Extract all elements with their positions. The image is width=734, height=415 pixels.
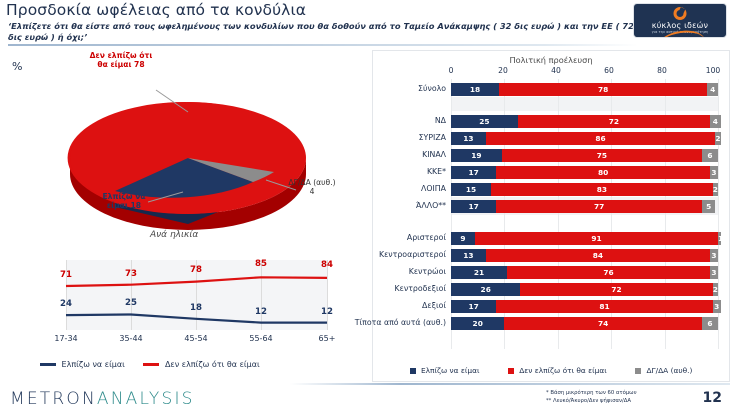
- legend-label: Δεν ελπίζω ότι θα είμαι: [165, 360, 260, 369]
- footnotes: * Βάση μικρότερη των 60 ατόμων ** Λευκό/…: [546, 390, 696, 405]
- bar-segment-value: 5: [702, 200, 715, 213]
- legend-swatch-red-icon: [508, 368, 514, 374]
- bar-plot-area: Σύνολο18784ΝΔ25724ΣΥΡΙΖΑ13862ΚΙΝΑΛ19756Κ…: [451, 79, 718, 349]
- bar-segment-value: 3: [710, 266, 718, 279]
- bar-segment-value: 3: [710, 166, 718, 179]
- plot-band: [451, 97, 718, 111]
- legend-item-red: Δεν ελπίζω ότι θα είμαι: [508, 366, 607, 375]
- kyklos-ideon-logo: κύκλος ιδεών για την αστική ανασυγκρότησ…: [634, 4, 726, 37]
- bar-segment-value: 72: [518, 115, 710, 128]
- bar-row-label: ΝΔ: [435, 116, 446, 125]
- bar-segment-navy: 18: [451, 83, 499, 96]
- bar-segment-value: 76: [507, 266, 710, 279]
- bar-segment-navy: 19: [451, 149, 502, 162]
- bar-chart-panel: Πολιτική προέλευση 0 20 40 60 80 100 Σύν…: [372, 50, 730, 382]
- bar-segment-value: 2: [713, 183, 718, 196]
- bar-segment-red: 80: [496, 166, 710, 179]
- pie-label-navy: Ελπίζω να είμαι 18: [86, 192, 162, 210]
- legend-item-navy: Ελπίζω να είμαι: [40, 360, 125, 369]
- bar-segment-value: 9: [451, 232, 475, 245]
- bar-segment-navy: 17: [451, 166, 496, 179]
- bar-segment-value: 81: [496, 300, 712, 313]
- bar-segment-red: 72: [520, 283, 712, 296]
- bar-segment-value: 18: [451, 83, 499, 96]
- footer-divider: [290, 383, 730, 385]
- bar-segment-navy: 13: [451, 132, 486, 145]
- bar-row-label: ΚΙΝΑΛ: [422, 150, 446, 159]
- bar-segment-value: 74: [504, 317, 702, 330]
- legend-swatch-red-icon: [143, 363, 159, 366]
- bar-segment-red: 78: [499, 83, 707, 96]
- legend-item-red: Δεν ελπίζω ότι θα είμαι: [143, 360, 259, 369]
- bar-row: Κεντροαριστεροί13843: [451, 249, 718, 262]
- legend-swatch-navy-icon: [40, 363, 56, 366]
- bar-segment-red: 84: [486, 249, 710, 262]
- line-value-red: 84: [314, 260, 340, 270]
- line-value-red: 78: [183, 265, 209, 275]
- bar-segment-red: 77: [496, 200, 702, 213]
- bar-segment-value: 72: [520, 283, 712, 296]
- bar-segment-grey: 5: [702, 200, 715, 213]
- bar-row-label: ΣΥΡΙΖΑ: [419, 133, 446, 142]
- line-chart-legend: Ελπίζω να είμαι Δεν ελπίζω ότι θα είμαι: [40, 360, 360, 369]
- line-value-navy: 12: [248, 307, 274, 317]
- bar-row-label: Τίποτα από αυτά (αυθ.): [355, 318, 446, 327]
- slide-root: Προσδοκία ωφέλειας από τα κονδύλια ‘Ελπί…: [0, 0, 734, 415]
- metron-analysis-logo: METRONANALYSIS: [10, 389, 195, 409]
- bar-segment-value: 86: [486, 132, 716, 145]
- bar-segment-navy: 25: [451, 115, 518, 128]
- bar-x-tick: 100: [703, 66, 723, 75]
- bar-segment-value: 77: [496, 200, 702, 213]
- bar-segment-red: 81: [496, 300, 712, 313]
- legend-swatch-grey-icon: [635, 368, 641, 374]
- bar-segment-navy: 15: [451, 183, 491, 196]
- bar-segment-value: 17: [451, 166, 496, 179]
- line-x-label: 45-54: [176, 334, 216, 343]
- bar-segment-grey: 6: [702, 317, 718, 330]
- line-chart-title: Ανά ηλικία: [150, 230, 198, 240]
- bar-chart-legend: Ελπίζω να είμαι Δεν ελπίζω ότι θα είμαι …: [373, 366, 729, 375]
- bar-segment-navy: 17: [451, 200, 496, 213]
- bar-segment-grey: 3: [710, 249, 718, 262]
- bar-segment-value: 17: [451, 300, 496, 313]
- bar-segment-value: 17: [451, 200, 496, 213]
- bar-segment-red: 86: [486, 132, 716, 145]
- bar-segment-grey: 2: [713, 183, 718, 196]
- bar-row-label: ΛΟΙΠΑ: [421, 184, 446, 193]
- bar-row: Τίποτα από αυτά (αυθ.)20746: [451, 317, 718, 330]
- bar-segment-red: 83: [491, 183, 713, 196]
- bar-segment-value: 3: [710, 249, 718, 262]
- bar-segment-navy: 21: [451, 266, 507, 279]
- bar-row: ΚΚΕ*17803: [451, 166, 718, 179]
- bar-segment-value: 4: [710, 115, 721, 128]
- bar-segment-grey: 4: [710, 115, 721, 128]
- line-x-label: 17-34: [46, 334, 86, 343]
- bar-segment-value: 6: [702, 317, 718, 330]
- bar-segment-grey: 1: [718, 232, 721, 245]
- bar-segment-value: 75: [502, 149, 702, 162]
- page-title: Προσδοκία ωφέλειας από τα κονδύλια: [6, 2, 626, 19]
- legend-label: Ελπίζω να είμαι: [62, 360, 125, 369]
- bar-x-tick: 60: [599, 66, 619, 75]
- brand-analysis: ANALYSIS: [97, 389, 195, 409]
- pie-chart-svg: [8, 52, 368, 232]
- bar-segment-value: 80: [496, 166, 710, 179]
- bar-segment-value: 83: [491, 183, 713, 196]
- footnote-2: ** Λευκό/Άκυρο/Δεν ψήφισαν/ΔΑ: [546, 398, 696, 406]
- bar-segment-value: 20: [451, 317, 504, 330]
- bar-row-label: ΚΚΕ*: [427, 167, 446, 176]
- bar-row-label: Αριστεροί: [407, 233, 446, 242]
- bar-segment-value: 25: [451, 115, 518, 128]
- bar-segment-navy: 17: [451, 300, 496, 313]
- bar-segment-grey: 3: [710, 266, 718, 279]
- bar-row: ΆΛΛΟ**17775: [451, 200, 718, 213]
- bar-segment-value: 91: [475, 232, 718, 245]
- line-value-navy: 24: [53, 299, 79, 309]
- bar-segment-navy: 26: [451, 283, 520, 296]
- bar-segment-value: 4: [707, 83, 718, 96]
- bar-segment-navy: 9: [451, 232, 475, 245]
- bar-row-label: Κεντροδεξιοί: [395, 284, 446, 293]
- line-value-red: 71: [53, 270, 79, 280]
- bar-row-label: Σύνολο: [418, 84, 446, 93]
- bar-row-label: Κεντροαριστεροί: [379, 250, 446, 259]
- line-chart-svg: [18, 246, 348, 346]
- line-value-red: 85: [248, 259, 274, 269]
- question-subtitle: ‘Ελπίζετε ότι θα είστε από τους ωφελημέν…: [8, 21, 638, 43]
- line-chart: 71 73 78 85 84 24 25 18 12 12 17-34 35-4…: [18, 246, 348, 346]
- logo-name: κύκλος ιδεών: [634, 21, 726, 30]
- bar-segment-red: 72: [518, 115, 710, 128]
- line-value-navy: 12: [314, 307, 340, 317]
- bar-row: Σύνολο18784: [451, 83, 718, 96]
- line-x-label: 65+: [307, 334, 347, 343]
- bar-row: ΣΥΡΙΖΑ13862: [451, 132, 718, 145]
- bar-row: ΛΟΙΠΑ15832: [451, 183, 718, 196]
- bar-x-tick: 40: [546, 66, 566, 75]
- bar-segment-grey: 2: [713, 283, 718, 296]
- circle-spiral-icon: [674, 7, 687, 20]
- bar-segment-red: 91: [475, 232, 718, 245]
- legend-label: Ελπίζω να είμαι: [421, 366, 479, 375]
- bar-segment-value: 78: [499, 83, 707, 96]
- bar-segment-navy: 13: [451, 249, 486, 262]
- bar-row-label: ΆΛΛΟ**: [416, 201, 446, 210]
- bar-segment-grey: 6: [702, 149, 718, 162]
- bar-x-tick: 20: [493, 66, 513, 75]
- bar-row-label: Κεντρώοι: [409, 267, 446, 276]
- bar-segment-red: 76: [507, 266, 710, 279]
- legend-label: ΔΓ/ΔΑ (αυθ.): [646, 366, 692, 375]
- bar-segment-value: 19: [451, 149, 502, 162]
- bar-segment-value: 13: [451, 249, 486, 262]
- line-x-label: 35-44: [111, 334, 151, 343]
- legend-label: Δεν ελπίζω ότι θα είμαι: [519, 366, 607, 375]
- line-value-red: 73: [118, 269, 144, 279]
- bar-segment-value: 84: [486, 249, 710, 262]
- bar-row: Κεντρώοι21763: [451, 266, 718, 279]
- line-value-navy: 18: [183, 303, 209, 313]
- bar-segment-grey: 4: [707, 83, 718, 96]
- bar-row: ΚΙΝΑΛ19756: [451, 149, 718, 162]
- footnote-1: * Βάση μικρότερη των 60 ατόμων: [546, 390, 696, 398]
- bar-row: Κεντροδεξιοί26722: [451, 283, 718, 296]
- bar-x-tick: 0: [441, 66, 461, 75]
- bar-segment-value: 6: [702, 149, 718, 162]
- bar-segment-navy: 20: [451, 317, 504, 330]
- pie-label-red: Δεν ελπίζω ότι θα είμαι 78: [66, 51, 176, 69]
- bar-row: Δεξιοί17813: [451, 300, 718, 313]
- bar-segment-value: 21: [451, 266, 507, 279]
- bar-segment-red: 74: [504, 317, 702, 330]
- page-number: 12: [703, 390, 722, 406]
- legend-item-grey: ΔΓ/ΔΑ (αυθ.): [635, 366, 692, 375]
- bar-segment-grey: 2: [715, 132, 720, 145]
- title-divider: [8, 44, 638, 46]
- legend-item-navy: Ελπίζω να είμαι: [410, 366, 480, 375]
- bar-segment-grey: 3: [710, 166, 718, 179]
- bar-segment-value: 13: [451, 132, 486, 145]
- bar-segment-value: 15: [451, 183, 491, 196]
- bar-segment-value: 3: [713, 300, 721, 313]
- bar-segment-value: 2: [715, 132, 720, 145]
- bar-x-tick: 80: [652, 66, 672, 75]
- bar-segment-grey: 3: [713, 300, 721, 313]
- line-value-navy: 25: [118, 298, 144, 308]
- bar-segment-value: 1: [718, 232, 721, 245]
- bar-row: Αριστεροί9911: [451, 232, 718, 245]
- legend-swatch-navy-icon: [410, 368, 416, 374]
- pie-label-grey: ΔΓ/ΔΑ (αυθ.) 4: [270, 178, 354, 196]
- bar-row-label: Δεξιοί: [422, 301, 446, 310]
- pie-chart: Δεν ελπίζω ότι θα είμαι 78 Ελπίζω να είμ…: [8, 52, 368, 232]
- bar-row: ΝΔ25724: [451, 115, 718, 128]
- bar-segment-value: 26: [451, 283, 520, 296]
- brand-metron: METRON: [10, 389, 97, 409]
- bar-segment-value: 2: [713, 283, 718, 296]
- line-x-label: 55-64: [241, 334, 281, 343]
- bar-chart-title: Πολιτική προέλευση: [373, 55, 729, 65]
- bar-segment-red: 75: [502, 149, 702, 162]
